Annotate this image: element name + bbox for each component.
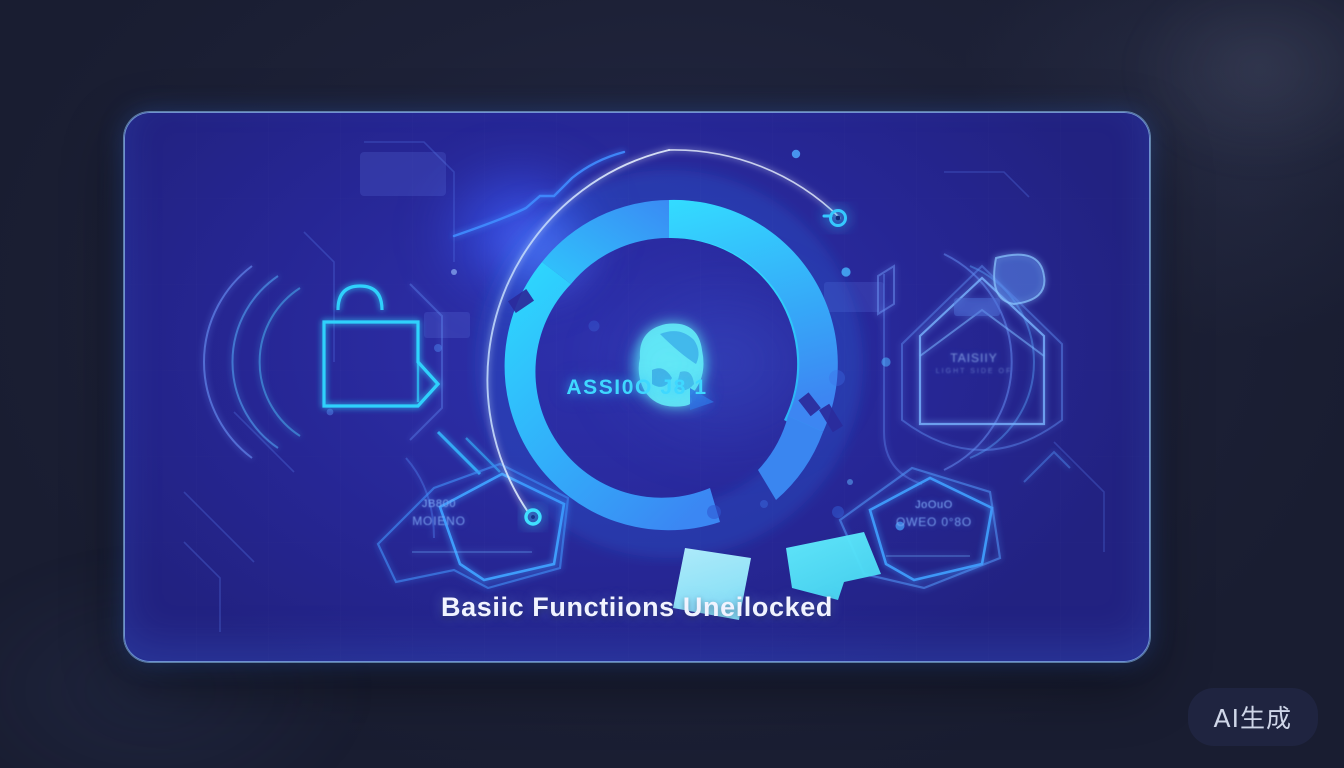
donut-shard-quad: [786, 532, 881, 600]
background-haze-top-right: [1130, 0, 1344, 170]
decor-lock-emblem: [204, 266, 500, 538]
decor-shield-emblem: [878, 254, 1062, 484]
main-card: ASSI0O J8 1 JB800 MOIENO JoOuO OWEO 0°8O…: [124, 112, 1150, 662]
orbit-marker-upper: [824, 211, 846, 226]
orbit-marker-lower: [526, 510, 540, 524]
page-background: ASSI0O J8 1 JB800 MOIENO JoOuO OWEO 0°8O…: [0, 0, 1344, 768]
center-code-label: ASSI0O J8 1: [124, 376, 1150, 400]
ai-generated-watermark: AI生成: [1188, 688, 1318, 746]
donut-chart: [501, 196, 881, 620]
card-caption: Basiic Functiions Uneilocked: [124, 592, 1150, 623]
